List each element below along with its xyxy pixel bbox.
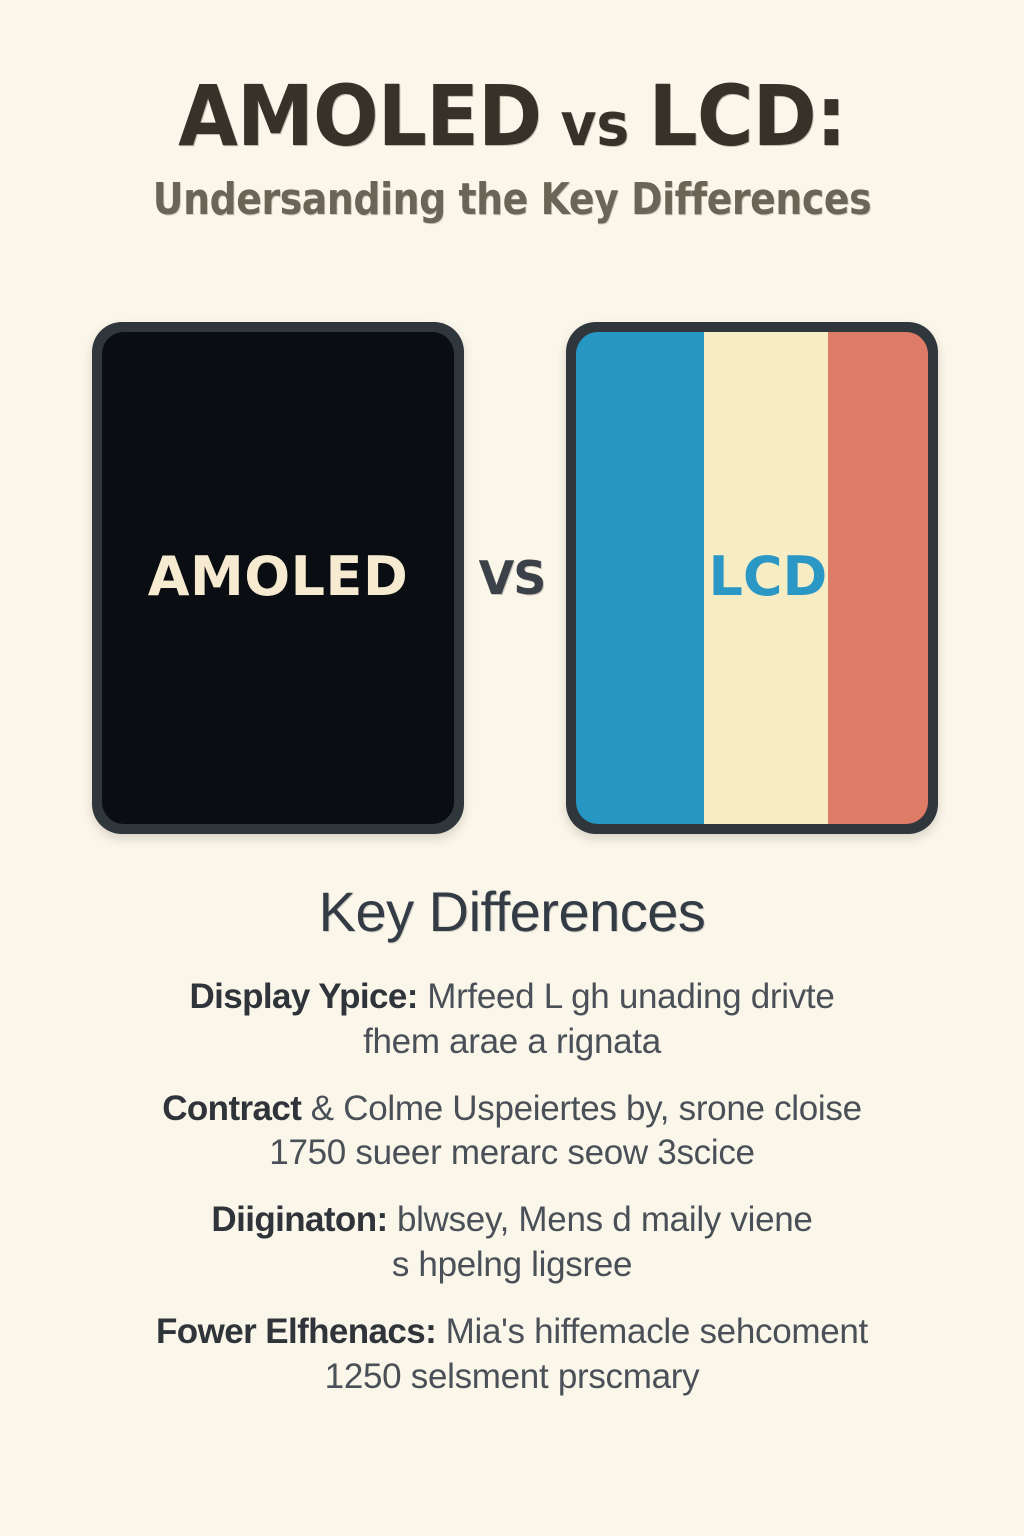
fact-body-line1: blwsey, Mens d maily viene xyxy=(397,1200,813,1239)
list-item: Diiginaton: blwsey, Mens d maily viene s… xyxy=(0,1198,1024,1288)
amoled-screen-label: AMOLED xyxy=(148,545,409,608)
amoled-device-panel: AMOLED xyxy=(92,322,464,834)
lcd-device-panel: LCD xyxy=(566,322,938,834)
fact-body-line2: s hpelng ligsree xyxy=(50,1243,974,1288)
list-item: Display Ypice: Mrfeed L gh unading drivt… xyxy=(0,975,1024,1065)
fact-label: Fower Elfhenacs: xyxy=(156,1312,436,1351)
fact-label: Diiginaton: xyxy=(211,1200,387,1239)
fact-body-line2: fhem arae a rignata xyxy=(50,1020,974,1065)
comparison-panels: AMOLED VS LCD xyxy=(0,322,1024,834)
amoled-screen: AMOLED xyxy=(102,332,454,824)
vs-separator-label: VS xyxy=(479,551,546,605)
fact-body-line1: Mia's hiffemacle sehcoment xyxy=(446,1312,868,1351)
lcd-screen: LCD xyxy=(576,332,928,824)
lcd-screen-label: LCD xyxy=(708,545,827,608)
list-item: Contract & Colme Uspeiertes by, srone cl… xyxy=(0,1087,1024,1177)
fact-body-line2: 1750 sueer merarc seow 3scice xyxy=(50,1131,974,1176)
list-item: Fower Elfhenacs: Mia's hiffemacle sehcom… xyxy=(0,1310,1024,1400)
fact-first-line: Fower Elfhenacs: Mia's hiffemacle sehcom… xyxy=(50,1310,974,1355)
page-title: AMOLED vs LCD: xyxy=(41,74,983,158)
fact-first-line: Display Ypice: Mrfeed L gh unading drivt… xyxy=(50,975,974,1020)
fact-label: Display Ypice: xyxy=(189,977,417,1016)
fact-body-line1: Mrfeed L gh unading drivte xyxy=(427,977,834,1016)
title-vs-word: vs xyxy=(541,90,648,160)
lcd-cream-band: LCD xyxy=(704,332,827,824)
fact-body-line2: 1250 selsment prscmary xyxy=(50,1355,974,1400)
fact-first-line: Diiginaton: blwsey, Mens d maily viene xyxy=(50,1198,974,1243)
title-amoled: AMOLED xyxy=(178,67,541,165)
key-differences-heading: Key Differences xyxy=(0,879,1024,944)
page-subtitle: Undersanding the Key Differences xyxy=(72,174,953,225)
lcd-red-band xyxy=(828,332,928,824)
fact-label: Contract xyxy=(162,1089,301,1128)
poster-header: AMOLED vs LCD: Undersanding the Key Diff… xyxy=(0,74,1024,225)
key-differences-list: Display Ypice: Mrfeed L gh unading drivt… xyxy=(0,975,1024,1421)
fact-first-line: Contract & Colme Uspeiertes by, srone cl… xyxy=(50,1087,974,1132)
infographic-poster: AMOLED vs LCD: Undersanding the Key Diff… xyxy=(0,0,1024,1536)
title-lcd: LCD: xyxy=(649,67,846,165)
lcd-blue-band xyxy=(576,332,704,824)
fact-body-line1: & Colme Uspeiertes by, srone cloise xyxy=(311,1089,862,1128)
